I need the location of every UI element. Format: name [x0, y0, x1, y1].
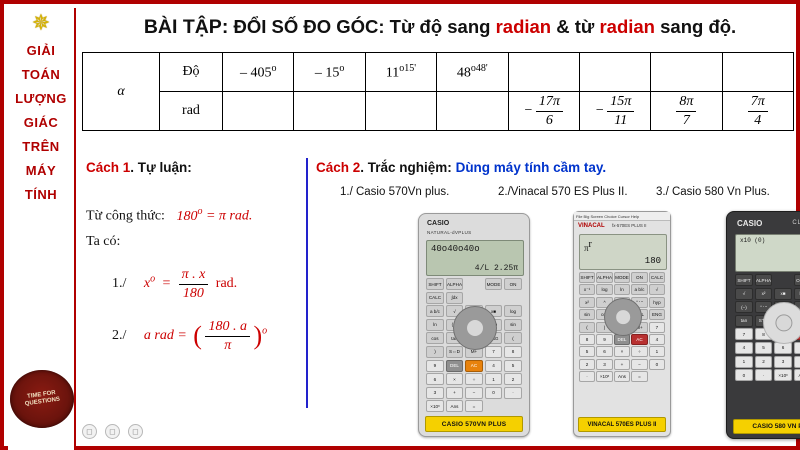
vertical-divider — [306, 158, 308, 408]
calc3-key-33[interactable]: 3 — [774, 356, 792, 368]
calc3-footer-label: CASIO 580 VN PLUS — [733, 419, 800, 434]
calc2-menubar[interactable]: File Big Screen Choice Cursor Help — [574, 212, 670, 221]
deg-val-3: 11 — [386, 65, 399, 80]
calc2-model: fx-570ES PLUS II — [612, 223, 646, 228]
table-cell-rad-5: − 17π 6 — [508, 92, 579, 131]
rad-sign-6: − — [596, 103, 604, 118]
calc3-key-9[interactable]: log — [794, 288, 800, 300]
calc1-key-6[interactable]: CALC — [426, 292, 444, 304]
calc2-key-20[interactable]: ENG — [649, 309, 665, 320]
item1-eq: = — [162, 276, 171, 291]
sidebar-item-tren: TRÊN — [8, 139, 74, 154]
calc2-key-43[interactable]: Ans — [614, 371, 630, 382]
calc3-screen-line1: x10 (0) — [740, 237, 765, 244]
taco-text: Ta có: — [86, 234, 120, 250]
calc1-key-35[interactable]: 5 — [504, 360, 522, 372]
calc2-key-29[interactable]: AC — [631, 334, 647, 345]
calc1-dpad[interactable] — [453, 306, 497, 350]
rad-sign-5: − — [524, 103, 532, 118]
calc2-brand: VINACAL — [578, 223, 605, 229]
calc3-classwiz-label: CLASSWIZ — [792, 220, 800, 226]
table-row-degrees: α Độ – 405o – 15o 11o15' 48o48' — [83, 53, 794, 92]
sidebar-item-giac: GIÁC — [8, 115, 74, 130]
rad-frac-6: 15π 11 — [607, 93, 634, 129]
calc2-screen-line1: πr — [584, 239, 592, 253]
calc2-key-31[interactable]: 5 — [579, 346, 595, 357]
calc1-key-27[interactable]: S⇔D — [446, 346, 464, 358]
title-mid: & từ — [551, 16, 599, 37]
title-radian-1: radian — [496, 16, 552, 37]
calc2-screen: πr 180 — [579, 234, 667, 270]
star-icon-top: ✵ — [8, 12, 74, 34]
sidebar-item-toan: TOÁN — [8, 67, 74, 82]
calc2-key-25[interactable]: 7 — [649, 322, 665, 333]
calc3-key-32[interactable]: 2 — [755, 356, 773, 368]
calc3-key-39[interactable]: Ans — [794, 369, 800, 381]
calc3-key-38[interactable]: ×10ˣ — [774, 369, 792, 381]
calc3-dpad[interactable] — [763, 302, 800, 344]
calc2-footer-label: VINACAL 570ES PLUS II — [578, 417, 666, 432]
calc1-dpad-center[interactable] — [466, 319, 484, 337]
item1-fraction: π . x 180 — [179, 266, 209, 302]
calc3-key-2[interactable]: ALPHA — [755, 274, 773, 286]
calc3-key-21[interactable]: 7 — [735, 328, 753, 340]
calc1-key-2[interactable]: ALPHA — [446, 278, 464, 290]
calc2-key-11[interactable]: x² — [579, 297, 595, 308]
calc2-key-42[interactable]: ×10ˣ — [596, 371, 612, 382]
formula-intro-line: Từ công thức: 180o = π rad. — [86, 206, 252, 225]
calc2-key-9[interactable]: a b/c — [631, 284, 647, 295]
calc1-key-11[interactable]: a b/c — [426, 305, 444, 317]
calc2-key-30[interactable]: 4 — [649, 334, 665, 345]
calc3-screen: x10 (0) — [735, 234, 800, 272]
calc1-key-7[interactable]: ∫dx — [446, 292, 464, 304]
table-cell-rad-6: − 15π 11 — [579, 92, 650, 131]
calc1-key-45[interactable]: · — [504, 387, 522, 399]
main-content: BÀI TẬP: ĐỔI SỐ ĐO GÓC: Từ độ sang radia… — [78, 10, 800, 446]
table-cell-deg-4: 48o48' — [437, 53, 508, 92]
formula-item-2: 2./ a rad = ( 180 . a π )o — [112, 318, 267, 354]
deg-val-1: – 405 — [240, 65, 272, 80]
calc2-key-5[interactable]: CALC — [649, 272, 665, 283]
rad-num-5: 17π — [536, 93, 563, 112]
calc3-key-37[interactable]: · — [755, 369, 773, 381]
table-cell-deg-8 — [722, 53, 793, 92]
calc1-key-4[interactable]: MODE — [485, 278, 503, 290]
calc1-footer-label: CASIO 570VN PLUS — [425, 416, 523, 432]
item2-num: 180 . a — [205, 318, 250, 337]
rad-den-5: 6 — [536, 112, 563, 130]
rad-frac-8: 7π 4 — [748, 93, 768, 129]
rad-frac-5: 17π 6 — [536, 93, 563, 129]
calc2-key-41[interactable]: · — [579, 371, 595, 382]
calc2-key-10[interactable]: √ — [649, 284, 665, 295]
calc2-key-6[interactable]: x⁻¹ — [579, 284, 595, 295]
deg-val-4: 48 — [457, 65, 471, 80]
rad-frac-7: 8π 7 — [676, 93, 696, 129]
item2-sup: o — [262, 326, 267, 337]
table-cell-deg-2: – 15o — [294, 53, 365, 92]
item1-den: 180 — [179, 285, 209, 303]
rad-num-7: 8π — [676, 93, 696, 112]
calc1-screen: 40o40o40o 4/L 2.25π — [426, 240, 524, 276]
calc2-key-33[interactable]: × — [614, 346, 630, 357]
table-cell-rad-8: 7π 4 — [722, 92, 793, 131]
rad-num-6: 15π — [607, 93, 634, 112]
calc1-key-29[interactable]: 7 — [485, 346, 503, 358]
rad-num-8: 7π — [748, 93, 768, 112]
table-cell-deg-5 — [508, 53, 579, 92]
calculator-casio-570vn[interactable]: CASIO NATURAL-dVPLUS 40o40o40o 4/L 2.25π… — [418, 213, 530, 437]
calc2-key-35[interactable]: 1 — [649, 346, 665, 357]
cach2-tail: Dùng máy tính cầm tay. — [452, 160, 606, 175]
calc2-key-16[interactable]: sin — [579, 309, 595, 320]
table-cell-rad-7: 8π 7 — [651, 92, 722, 131]
calculator-vinacal-570es[interactable]: File Big Screen Choice Cursor Help VINAC… — [573, 211, 671, 437]
table-cell-rad-3 — [365, 92, 436, 131]
table-cell-deg-7 — [651, 53, 722, 92]
calc1-key-38[interactable]: ÷ — [465, 373, 483, 385]
calc2-screen-line1-sup: r — [589, 239, 592, 250]
calc1-key-32[interactable]: DEL — [446, 360, 464, 372]
title-part1: ĐỔI SỐ ĐO GÓC: Từ độ sang — [228, 16, 495, 37]
table-cell-alpha: α — [83, 53, 160, 131]
calc1-key-43[interactable]: − — [465, 387, 483, 399]
formula-180-sup: o — [197, 206, 202, 217]
cach2-rest: . Trắc nghiệm: — [360, 160, 452, 175]
page-title: BÀI TẬP: ĐỔI SỐ ĐO GÓC: Từ độ sang radia… — [84, 16, 796, 39]
section-cach1-heading: Cách 1. Tự luận: — [86, 160, 192, 175]
calc1-key-47[interactable]: Ans — [446, 400, 464, 412]
calc1-key-26[interactable]: ) — [426, 346, 444, 358]
calc3-key-29[interactable]: × — [794, 342, 800, 354]
calc1-key-37[interactable]: × — [446, 373, 464, 385]
item2-fraction: 180 . a π — [205, 318, 250, 354]
calc3-dpad-center[interactable] — [775, 314, 792, 331]
calc-caption-1: 1./ Casio 570Vn plus. — [340, 186, 449, 198]
calc1-key-31[interactable]: 9 — [426, 360, 444, 372]
calc3-key-26[interactable]: 4 — [735, 342, 753, 354]
calc2-key-39[interactable]: − — [631, 359, 647, 370]
item1-lhs-sup: o — [150, 274, 155, 285]
calc1-key-40[interactable]: 2 — [504, 373, 522, 385]
calc2-key-3[interactable]: MODE — [614, 272, 630, 283]
calc3-brand: CASIO — [737, 219, 762, 228]
table-cell-deg-6 — [579, 53, 650, 92]
sidebar-item-giai: GIẢI — [8, 43, 74, 58]
sidebar-item-tinh: TÍNH — [8, 187, 74, 202]
calc3-key-31[interactable]: 1 — [735, 356, 753, 368]
calc1-key-15[interactable]: log — [504, 305, 522, 317]
calc3-key-7[interactable]: x² — [755, 288, 773, 300]
title-lead: BÀI TẬP: — [144, 16, 229, 38]
calc3-key-27[interactable]: 5 — [755, 342, 773, 354]
rad-den-7: 7 — [676, 112, 696, 130]
title-part2: sang độ. — [655, 16, 736, 37]
table-cell-rad-1 — [223, 92, 294, 131]
calc3-key-8[interactable]: x■ — [774, 288, 792, 300]
calc1-key-48[interactable]: = — [465, 400, 483, 412]
calc2-key-38[interactable]: + — [614, 359, 630, 370]
rad-den-6: 11 — [607, 112, 634, 130]
table-row-radians: rad − 17π 6 − 15π 11 — [83, 92, 794, 131]
sidebar-item-luong: LƯỢNG — [8, 91, 74, 106]
calc1-key-36[interactable]: 6 — [426, 373, 444, 385]
calc3-key-6[interactable]: √ — [735, 288, 753, 300]
deg-sup-3: o15' — [399, 63, 416, 74]
deg-sup-1: o — [271, 63, 276, 74]
calc1-key-5[interactable]: ON — [504, 278, 522, 290]
calc2-key-36[interactable]: 2 — [579, 359, 595, 370]
table-header-do: Độ — [160, 53, 223, 92]
item2-paren-close: ) — [253, 321, 262, 350]
calc2-key-8[interactable]: ln — [614, 284, 630, 295]
formula-tail: = π rad. — [206, 209, 252, 224]
item2-paren-open: ( — [193, 321, 202, 350]
calc1-key-30[interactable]: 8 — [504, 346, 522, 358]
deg-sup-4: o48' — [471, 63, 488, 74]
calculator-casio-580vn[interactable]: CASIO CLASSWIZ x10 (0) SHIFTALPHAOPTNCAL… — [726, 211, 800, 439]
calc2-key-37[interactable]: 3 — [596, 359, 612, 370]
calc1-screen-line1: 40o40o40o — [431, 244, 480, 254]
table-header-rad: rad — [160, 92, 223, 131]
table-cell-deg-1: – 405o — [223, 53, 294, 92]
calc1-key-34[interactable]: 4 — [485, 360, 503, 372]
item2-index: 2./ — [112, 328, 126, 343]
calc2-key-1[interactable]: SHIFT — [579, 272, 595, 283]
calc1-key-39[interactable]: 1 — [485, 373, 503, 385]
cach2-label: Cách 2 — [316, 160, 360, 175]
formula-180: 180 — [176, 209, 197, 224]
calc3-key-16[interactable]: tan — [735, 315, 753, 327]
item2-lhs: a rad = — [144, 328, 187, 343]
calc1-key-20[interactable]: sin — [504, 319, 522, 331]
calc1-key-46[interactable]: ×10ˣ — [426, 400, 444, 412]
stamp-label: TIME FOR QUESTIONS — [9, 388, 74, 410]
calc-caption-3: 3./ Casio 580 Vn Plus. — [656, 186, 770, 198]
calc1-key-44[interactable]: 0 — [485, 387, 503, 399]
calc1-key-42[interactable]: + — [446, 387, 464, 399]
calc2-key-40[interactable]: 0 — [649, 359, 665, 370]
calc2-dpad[interactable] — [604, 298, 642, 336]
table-cell-rad-2 — [294, 92, 365, 131]
title-radian-2: radian — [599, 16, 655, 37]
table-cell-rad-4 — [437, 92, 508, 131]
calc2-key-44[interactable]: = — [631, 371, 647, 382]
calc1-brand: CASIO — [427, 220, 449, 227]
cach1-rest: . Tự luận: — [130, 160, 192, 175]
calc3-key-34[interactable]: + — [794, 356, 800, 368]
calc2-key-2[interactable]: ALPHA — [596, 272, 612, 283]
calc2-key-7[interactable]: log — [596, 284, 612, 295]
deg-val-2: – 15 — [315, 65, 340, 80]
stamp-badge: TIME FOR QUESTIONS — [10, 370, 74, 428]
calc2-key-21[interactable]: ( — [579, 322, 595, 333]
calc2-key-32[interactable]: 6 — [596, 346, 612, 357]
calc3-key-1[interactable]: SHIFT — [735, 274, 753, 286]
table-cell-deg-3: 11o15' — [365, 53, 436, 92]
calc1-key-25[interactable]: ( — [504, 332, 522, 344]
calc2-dpad-center[interactable] — [615, 309, 631, 325]
calc1-screen-line2: 4/L 2.25π — [475, 264, 518, 273]
formula-intro-text: Từ công thức: — [86, 209, 165, 224]
sidebar-item-may: MÁY — [8, 163, 74, 178]
section-cach2-heading: Cách 2. Trắc nghiệm: Dùng máy tính cầm t… — [316, 160, 606, 175]
calc1-key-16[interactable]: ln — [426, 319, 444, 331]
calc2-screen-line2: 180 — [645, 256, 661, 266]
calc1-key-41[interactable]: 3 — [426, 387, 444, 399]
calc3-key-11[interactable]: (−) — [735, 301, 753, 313]
angle-conversion-table: α Độ – 405o – 15o 11o15' 48o48' rad − — [82, 52, 794, 131]
cach1-label: Cách 1 — [86, 160, 130, 175]
calc2-key-4[interactable]: ON — [631, 272, 647, 283]
item1-index: 1./ — [112, 276, 126, 291]
calc1-key-21[interactable]: cos — [426, 332, 444, 344]
slide-page: ✵ GIẢI TOÁN LƯỢNG GIÁC TRÊN MÁY TÍNH TIM… — [0, 0, 800, 450]
sidebar: ✵ GIẢI TOÁN LƯỢNG GIÁC TRÊN MÁY TÍNH TIM… — [8, 8, 76, 450]
formula-item-1: 1./ xo = π . x 180 rad. — [112, 266, 237, 302]
item2-den: π — [205, 337, 250, 355]
item1-tail: rad. — [216, 276, 237, 291]
calc3-key-36[interactable]: 0 — [735, 369, 753, 381]
calc2-key-15[interactable]: hyp — [649, 297, 665, 308]
calc2-key-34[interactable]: ÷ — [631, 346, 647, 357]
calc1-key-33[interactable]: AC — [465, 360, 483, 372]
calc-caption-2: 2./Vinacal 570 ES Plus II. — [498, 186, 628, 198]
calc2-key-26[interactable]: 8 — [579, 334, 595, 345]
item1-num: π . x — [179, 266, 209, 285]
deg-sup-2: o — [339, 63, 344, 74]
calc3-key-4[interactable]: OPTN — [794, 274, 800, 286]
calc2-key-27[interactable]: 9 — [596, 334, 612, 345]
calc1-model: NATURAL-dVPLUS — [427, 230, 471, 235]
calc1-key-1[interactable]: SHIFT — [426, 278, 444, 290]
rad-den-8: 4 — [748, 112, 768, 130]
